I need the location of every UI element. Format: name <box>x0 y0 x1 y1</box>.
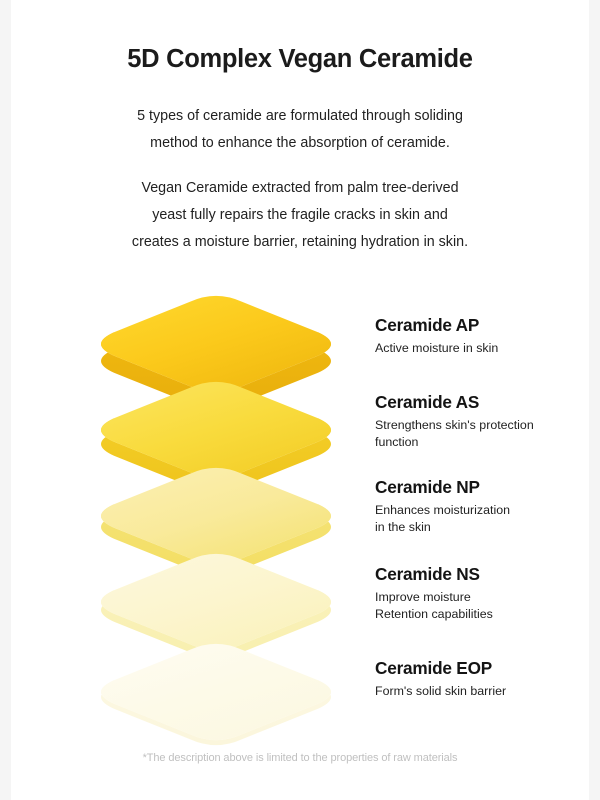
ceramide-plate-eop <box>86 636 346 759</box>
ceramide-description: Strengthens skin's protection function <box>375 417 590 452</box>
ceramide-plate-ap <box>86 288 346 423</box>
ceramide-description: Active moisture in skin <box>375 340 590 358</box>
ceramide-name: Ceramide AP <box>375 315 590 337</box>
ceramide-description: Form's solid skin barrier <box>375 683 590 701</box>
ceramide-description: Enhances moisturization in the skin <box>375 502 590 537</box>
ceramide-name: Ceramide EOP <box>375 658 590 680</box>
footnote-disclaimer: *The description above is limited to the… <box>11 752 589 764</box>
ceramide-name: Ceramide AS <box>375 392 590 414</box>
intro-paragraph-1: 5 types of ceramide are formulated throu… <box>11 103 589 157</box>
ceramide-label-eop: Ceramide EOPForm's solid skin barrier <box>375 658 590 700</box>
ceramide-name: Ceramide NP <box>375 477 590 499</box>
ceramide-label-ap: Ceramide APActive moisture in skin <box>375 315 590 357</box>
ceramide-name: Ceramide NS <box>375 564 590 586</box>
ceramide-label-np: Ceramide NPEnhances moisturization in th… <box>375 477 590 537</box>
header-section: 5D Complex Vegan Ceramide 5 types of cer… <box>11 0 589 256</box>
ceramide-label-ns: Ceramide NSImprove moisture Retention ca… <box>375 564 590 624</box>
ceramide-plate-np <box>86 460 346 589</box>
ceramide-plate-as <box>86 374 346 506</box>
ceramide-description: Improve moisture Retention capabilities <box>375 589 590 624</box>
product-infographic-page: 5D Complex Vegan Ceramide 5 types of cer… <box>0 0 600 800</box>
page-title: 5D Complex Vegan Ceramide <box>11 44 589 75</box>
intro-paragraph-2: Vegan Ceramide extracted from palm tree-… <box>11 175 589 256</box>
ceramide-plate-ns <box>86 546 346 672</box>
ceramide-label-as: Ceramide ASStrengthens skin's protection… <box>375 392 590 452</box>
